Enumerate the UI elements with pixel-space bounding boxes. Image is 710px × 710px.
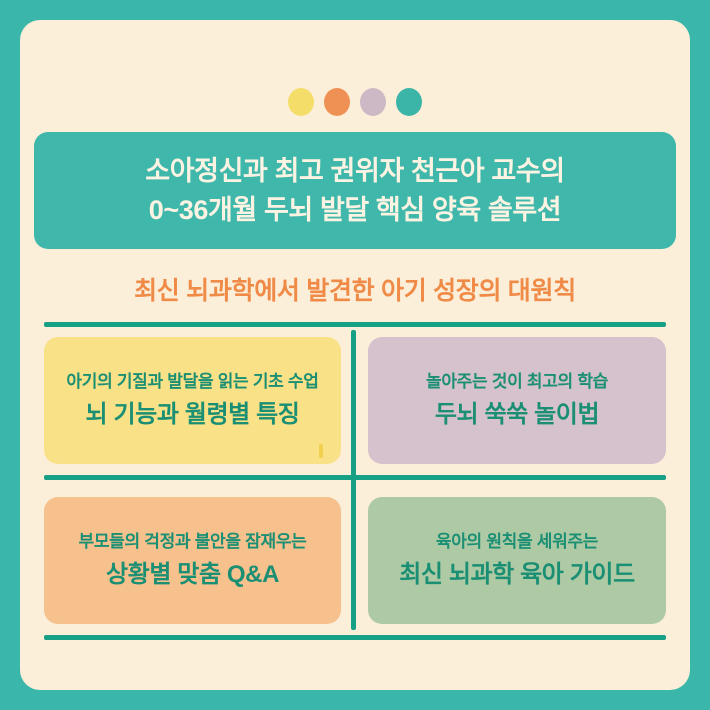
card-brain-function[interactable]: 아기의 기질과 발달을 읽는 기초 수업 뇌 기능과 월령별 특징 <box>44 337 341 464</box>
card-play-method[interactable]: 놀아주는 것이 최고의 학습 두뇌 쑥쑥 놀이법 <box>368 337 666 464</box>
card-title: 뇌 기능과 월령별 특징 <box>86 400 300 430</box>
decorative-dot-row <box>20 88 690 116</box>
dot-orange-icon <box>324 88 350 116</box>
poster-frame: 소아정신과 최고 권위자 천근아 교수의 0~36개월 두뇌 발달 핵심 양육 … <box>0 0 710 710</box>
card-title: 두뇌 쑥쑥 놀이법 <box>435 400 599 430</box>
subtitle-text: 최신 뇌과학에서 발견한 아기 성장의 대원칙 <box>20 271 690 307</box>
dot-mauve-icon <box>360 88 386 116</box>
card-title: 최신 뇌과학 육아 가이드 <box>399 560 635 590</box>
header-line-1: 소아정신과 최고 권위자 천근아 교수의 <box>145 152 564 190</box>
card-parenting-guide[interactable]: 육아의 원칙을 세워주는 최신 뇌과학 육아 가이드 <box>368 497 666 624</box>
card-subtitle: 육아의 원칙을 세워주는 <box>436 531 598 553</box>
header-banner: 소아정신과 최고 권위자 천근아 교수의 0~36개월 두뇌 발달 핵심 양육 … <box>34 132 676 249</box>
dot-yellow-icon <box>288 88 314 116</box>
card-subtitle: 부모들의 걱정과 불안을 잠재우는 <box>78 531 306 553</box>
divider-bottom <box>44 635 666 640</box>
divider-top <box>44 322 666 327</box>
divider-vertical <box>351 330 356 630</box>
decorative-tick-icon <box>319 444 323 458</box>
dot-teal-icon <box>396 88 422 116</box>
card-situational-qna[interactable]: 부모들의 걱정과 불안을 잠재우는 상황별 맞춤 Q&A <box>44 497 341 624</box>
header-line-2: 0~36개월 두뇌 발달 핵심 양육 솔루션 <box>149 191 561 229</box>
card-title: 상황별 맞춤 Q&A <box>106 560 279 590</box>
card-subtitle: 아기의 기질과 발달을 읽는 기초 수업 <box>66 371 318 393</box>
card-subtitle: 놀아주는 것이 최고의 학습 <box>426 371 608 393</box>
content-panel: 소아정신과 최고 권위자 천근아 교수의 0~36개월 두뇌 발달 핵심 양육 … <box>20 20 690 690</box>
